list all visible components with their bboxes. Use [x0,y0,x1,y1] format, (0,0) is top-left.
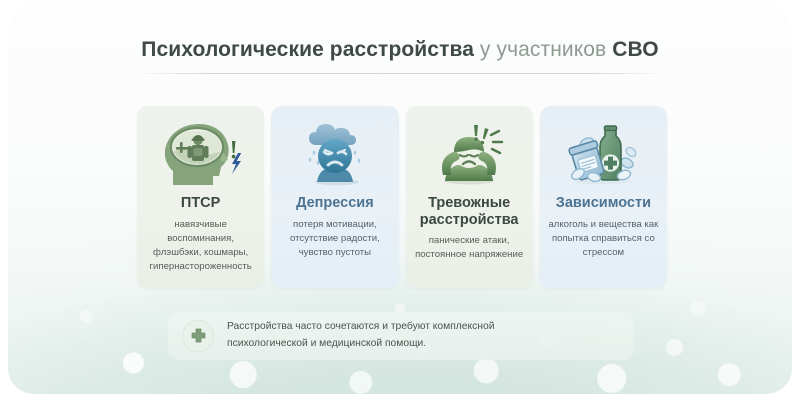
card-title-anxiety: Тревожные расстройства [412,195,527,228]
sad-face-raincloud-icon [277,115,392,193]
card-title-depression: Депрессия [277,195,392,212]
note-line-2: психологической и медицинской помощи. [227,336,494,353]
medical-cross-icon [182,320,214,352]
desc-line: постоянное напряжение [415,249,523,260]
page-title-highlight: Психологические расстройства [141,38,474,61]
desc-line: гипернастороженность [150,261,252,272]
card-depression[interactable]: Депрессия потеря мотивации, отсутствие р… [271,106,398,288]
desc-line: потеря мотивации, [293,219,377,230]
card-ptsr[interactable]: ПТСР навязчивые воспоминания, флэшбэки, … [137,106,264,288]
card-desc-depression: потеря мотивации, отсутствие радости, чу… [277,218,392,261]
title-divider [134,73,666,74]
card-desc-addiction: алкоголь и вещества как попытка справить… [546,218,661,261]
page-title-middle: у участников [474,38,612,61]
card-addiction[interactable]: Зависимости алкоголь и вещества как попы… [540,106,667,288]
desc-line: воспоминания, [167,233,234,244]
card-desc-anxiety: панические атаки, постоянное напряжение [412,234,527,262]
desc-line: чувство пустоты [299,247,371,258]
card-desc-ptsr: навязчивые воспоминания, флэшбэки, кошма… [143,218,258,275]
card-title-addiction: Зависимости [546,195,661,212]
desc-line: панические атаки, [429,235,510,246]
disorder-card-list: ПТСР навязчивые воспоминания, флэшбэки, … [137,106,667,288]
desc-line: флэшбэки, кошмары, [153,247,248,258]
summary-note-text: Расстройства часто сочетаются и требуют … [227,319,494,352]
desc-line: справиться со стрессом [583,233,655,258]
card-anxiety[interactable]: Тревожные расстройства панические атаки,… [406,106,533,288]
bottle-pills-icon [546,115,661,193]
head-soldier-thought-icon [143,115,258,193]
page-title: Психологические расстройства у участнико… [0,38,800,62]
note-line-1: Расстройства часто сочетаются и требуют … [227,319,494,336]
header: Психологические расстройства у участнико… [0,38,800,74]
desc-line: отсутствие радости, [290,233,380,244]
infographic-stage: Психологические расстройства у участнико… [0,0,800,400]
desc-line: навязчивые [174,219,227,230]
page-title-tail: СВО [612,38,658,61]
desc-line: алкоголь и вещества [548,219,641,230]
card-title-ptsr: ПТСР [143,195,258,212]
stressed-head-clutch-icon [412,115,527,193]
summary-note: Расстройства часто сочетаются и требуют … [168,312,634,360]
